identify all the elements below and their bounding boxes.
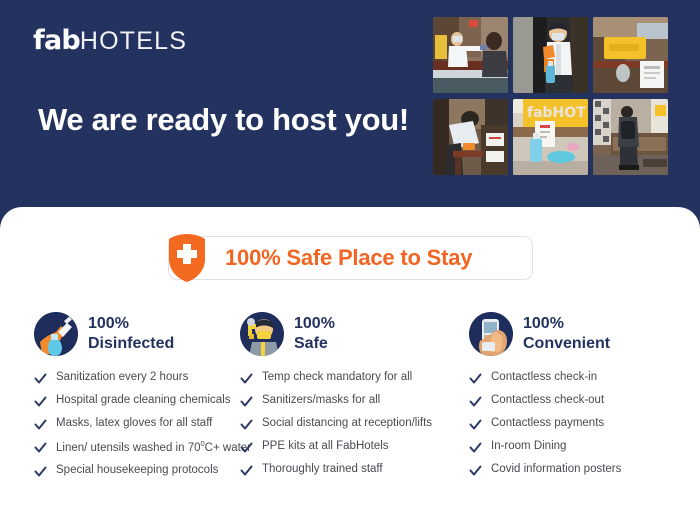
hero-section: fabHOTELS We are ready to host you! (0, 0, 700, 215)
list-item: Masks, latex gloves for all staff (34, 416, 237, 432)
list-item-label: Thoroughly trained staff (262, 462, 383, 478)
list-item-label: PPE kits at all FabHotels (262, 439, 389, 455)
list-item: Covid information posters (469, 462, 700, 478)
feature-bullet-list: Contactless check-in Contactless check-o… (469, 370, 700, 478)
list-item: Linen/ utensils washed in 700C+ water (34, 439, 237, 456)
list-item: Special housekeeping protocols (34, 463, 237, 479)
check-icon (240, 372, 253, 385)
list-item-label: Contactless check-out (491, 393, 604, 409)
list-item-label: Masks, latex gloves for all staff (56, 416, 212, 432)
check-icon (240, 441, 253, 454)
svg-text:fabHOT: fabHOT (527, 105, 586, 121)
feature-column-title: 100% Disinfected (88, 314, 174, 354)
list-item: PPE kits at all FabHotels (240, 439, 469, 455)
feature-name: Safe (294, 334, 335, 354)
feature-name: Disinfected (88, 334, 174, 354)
feature-column-title: 100% Safe (294, 314, 335, 354)
list-item-label: Sanitization every 2 hours (56, 370, 188, 386)
safe-place-banner: 100% Safe Place to Stay (168, 236, 533, 280)
feature-column-disinfected: 100% Disinfected Sanitization every 2 ho… (0, 312, 237, 486)
list-item-label: Social distancing at reception/lifts (262, 416, 432, 432)
list-item: Contactless payments (469, 416, 700, 432)
fabhotels-logo[interactable]: fabHOTELS (33, 27, 187, 54)
feature-bullet-list: Sanitization every 2 hours Hospital grad… (34, 370, 237, 479)
list-item-label: Contactless check-in (491, 370, 597, 386)
list-item-label: Covid information posters (491, 462, 621, 478)
photo-sanitizer-station-counter: fabHOT (513, 99, 588, 175)
check-icon (469, 418, 482, 431)
safe-place-banner-label: 100% Safe Place to Stay (225, 245, 472, 271)
photo-fabhotels-signage-lobby (593, 17, 668, 93)
photo-temperature-check-at-reception (433, 17, 508, 93)
check-icon (469, 464, 482, 477)
logo-fab-text: fab (33, 25, 80, 56)
photo-staff-sanitizing-with-spray (513, 17, 588, 93)
list-item-label: Special housekeeping protocols (56, 463, 218, 479)
list-item-label: Temp check mandatory for all (262, 370, 412, 386)
list-item-label: Hospital grade cleaning chemicals (56, 393, 231, 409)
list-item-label: Linen/ utensils washed in 700C+ water (56, 439, 251, 456)
list-item: Contactless check-out (469, 393, 700, 409)
feature-column-safe: 100% Safe Temp check mandatory for all S… (237, 312, 469, 486)
check-icon (469, 395, 482, 408)
list-item: Thoroughly trained staff (240, 462, 469, 478)
list-item-label: Contactless payments (491, 416, 604, 432)
hero-headline: We are ready to host you! (38, 102, 409, 138)
spray-bottle-icon (34, 312, 78, 356)
check-icon (34, 465, 47, 478)
photo-collage: fabHOT (433, 17, 668, 175)
feature-bullet-list: Temp check mandatory for all Sanitizers/… (240, 370, 469, 478)
list-item: Hospital grade cleaning chemicals (34, 393, 237, 409)
list-item: Sanitization every 2 hours (34, 370, 237, 386)
list-item: Contactless check-in (469, 370, 700, 386)
check-icon (469, 372, 482, 385)
hand-mobile-phone-icon (469, 312, 513, 356)
list-item: Social distancing at reception/lifts (240, 416, 469, 432)
feature-column-title: 100% Convenient (523, 314, 610, 354)
photo-staff-wiping-surfaces (433, 99, 508, 175)
check-icon (34, 441, 47, 454)
feature-column-header: 100% Convenient (469, 312, 700, 356)
list-item: In-room Dining (469, 439, 700, 455)
feature-name: Convenient (523, 334, 610, 354)
thermometer-gun-person-icon (240, 312, 284, 356)
list-item: Sanitizers/masks for all (240, 393, 469, 409)
feature-percent: 100% (523, 314, 610, 334)
check-icon (34, 395, 47, 408)
feature-percent: 100% (294, 314, 335, 334)
list-item: Temp check mandatory for all (240, 370, 469, 386)
list-item-label: Sanitizers/masks for all (262, 393, 380, 409)
check-icon (34, 418, 47, 431)
feature-percent: 100% (88, 314, 174, 334)
check-icon (469, 441, 482, 454)
photo-guest-at-reception-desk (593, 99, 668, 175)
feature-column-convenient: 100% Convenient Contactless check-in Con… (469, 312, 700, 486)
feature-column-header: 100% Disinfected (34, 312, 237, 356)
check-icon (34, 372, 47, 385)
features-columns: 100% Disinfected Sanitization every 2 ho… (0, 312, 700, 486)
check-icon (240, 418, 253, 431)
check-icon (240, 395, 253, 408)
list-item-label: In-room Dining (491, 439, 566, 455)
check-icon (240, 464, 253, 477)
logo-hotels-text: HOTELS (80, 27, 187, 55)
feature-column-header: 100% Safe (240, 312, 469, 356)
shield-plus-icon (166, 233, 208, 283)
